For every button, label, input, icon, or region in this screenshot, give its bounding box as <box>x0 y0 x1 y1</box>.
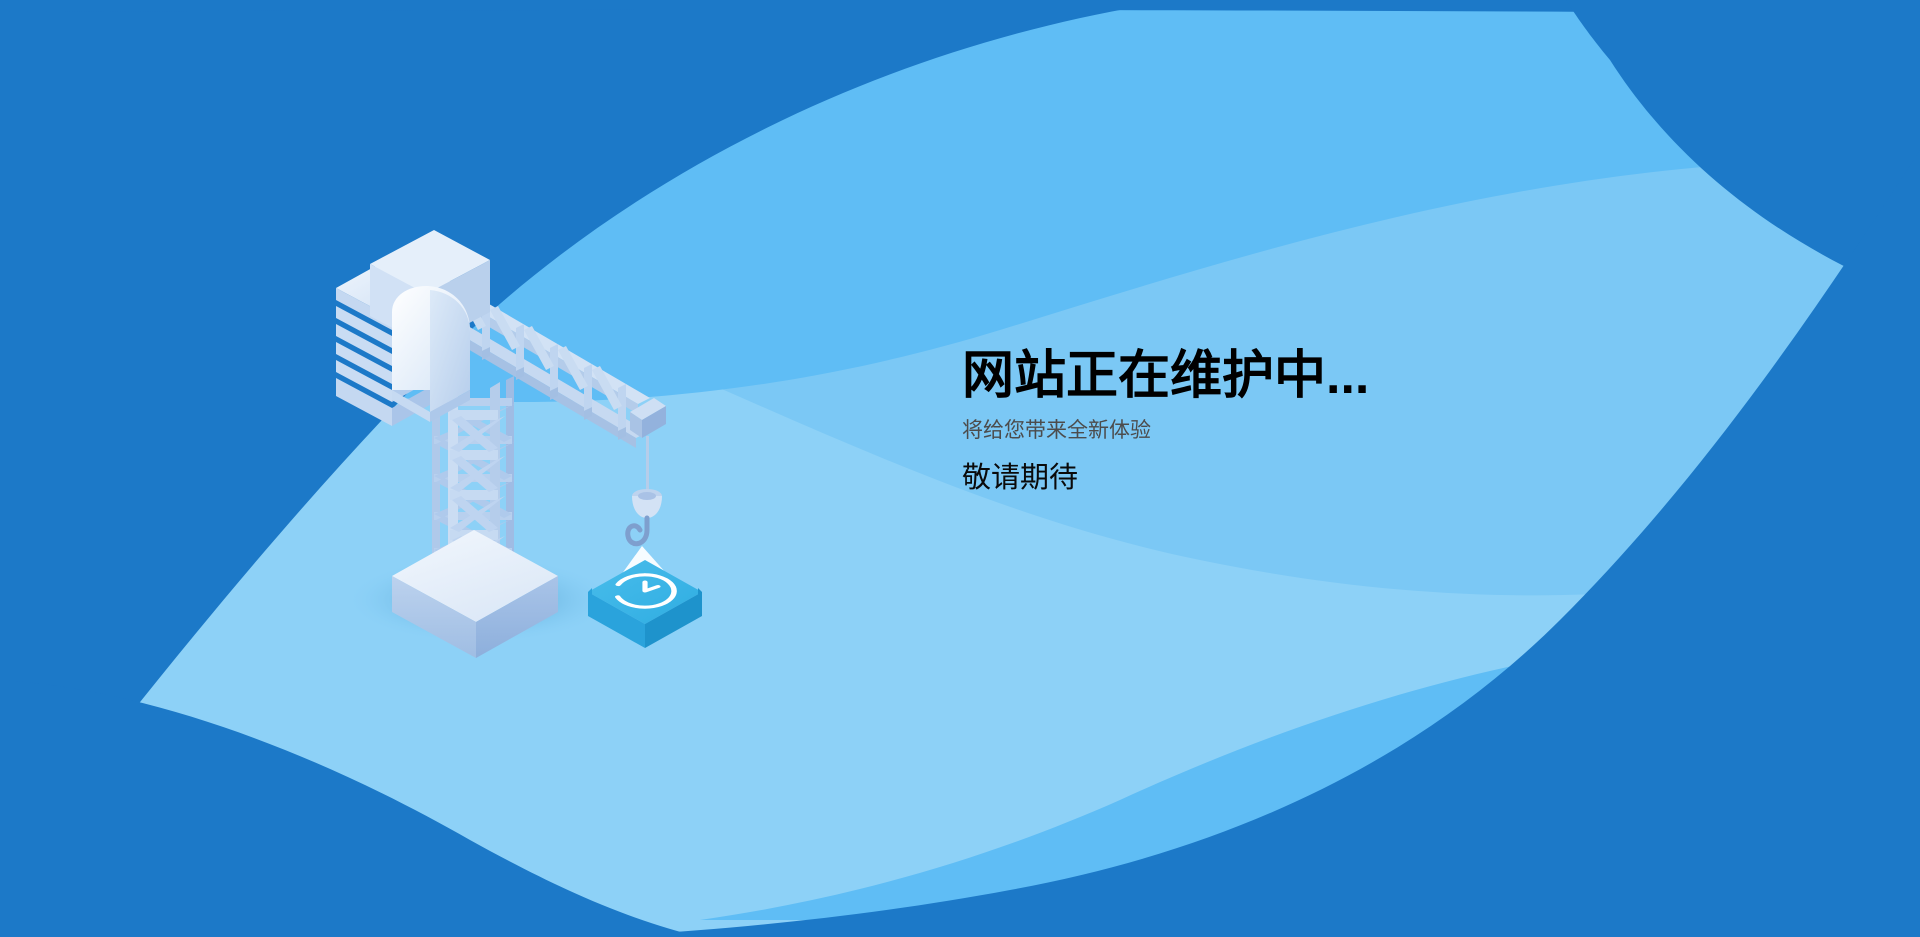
maintenance-page: 网站正在维护中... 将给您带来全新体验 敬请期待 <box>0 0 1920 937</box>
operator-cab <box>392 286 470 422</box>
page-tagline: 敬请期待 <box>962 461 1722 496</box>
crane-svg <box>330 230 790 750</box>
pulley-block <box>632 489 662 518</box>
hoist-cable <box>646 436 649 494</box>
tower-crane-illustration <box>330 230 790 750</box>
crane-base-slab <box>392 530 558 658</box>
page-subtitle: 将给您带来全新体验 <box>962 418 1722 443</box>
page-title: 网站正在维护中... <box>962 348 1722 404</box>
crane-hook <box>628 518 647 544</box>
maintenance-copy: 网站正在维护中... 将给您带来全新体验 敬请期待 <box>962 348 1722 496</box>
clock-box-payload <box>588 560 702 648</box>
